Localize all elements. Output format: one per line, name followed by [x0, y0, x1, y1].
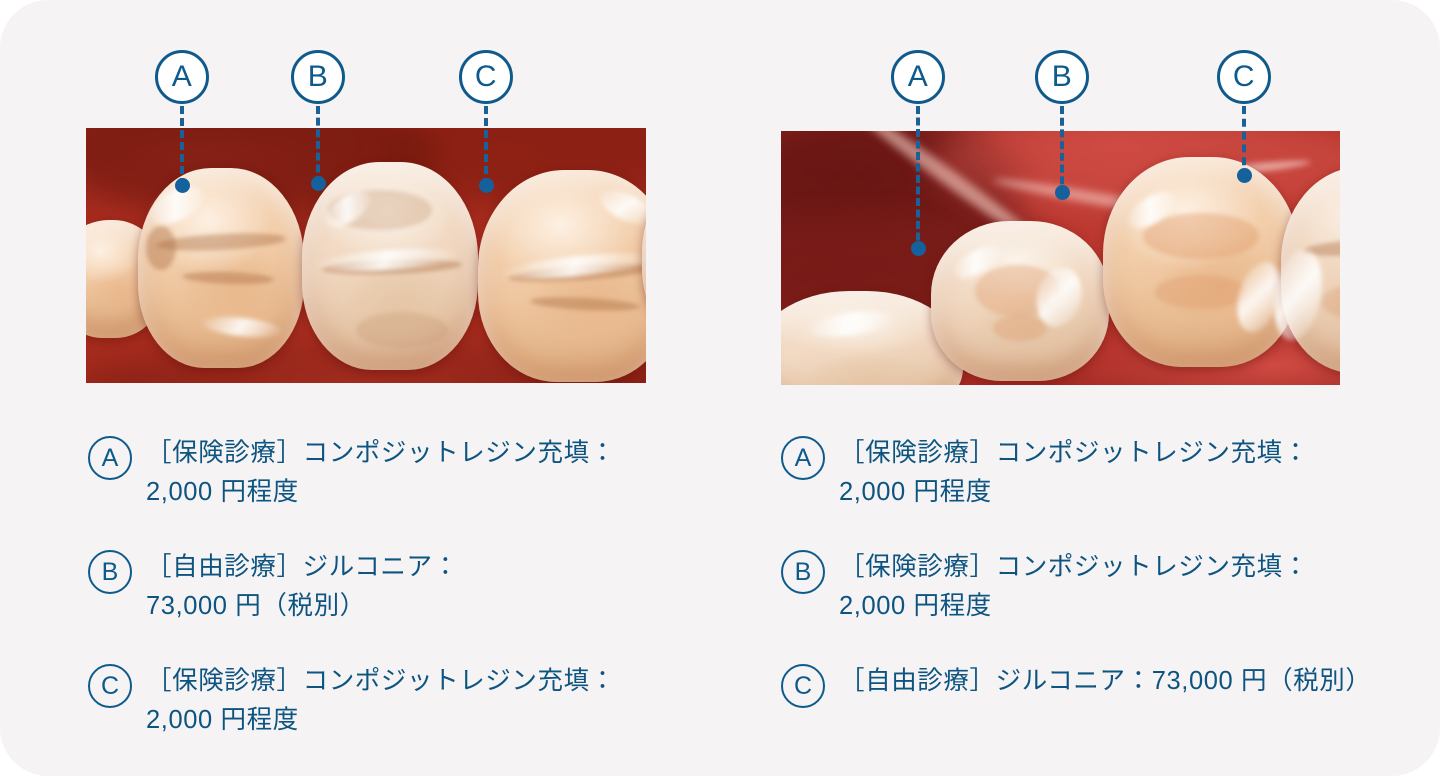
legend-badge-a-label: A [102, 446, 119, 471]
legend-item-b: B ［自由診療］ジルコニア： 73,000 円（税別） [88, 548, 459, 626]
legend-badge-b-label: B [795, 560, 812, 585]
legend-item-c: C ［自由診療］ジルコニア：73,000 円（税別） [781, 662, 1371, 708]
case-left: A B C A ［保険診療］コンポジットレジン充填： 2,000 円程度 [0, 0, 720, 776]
legend-text-b: ［保険診療］コンポジットレジン充填： 2,000 円程度 [839, 548, 1309, 626]
legend-text-a: ［保険診療］コンポジットレジン充填： 2,000 円程度 [146, 434, 616, 512]
legend-badge-b-label: B [102, 560, 119, 585]
legend-text-c: ［自由診療］ジルコニア：73,000 円（税別） [839, 662, 1371, 701]
legend-badge-c-label: C [101, 674, 119, 699]
legend-right: A ［保険診療］コンポジットレジン充填： 2,000 円程度 B ［保険診療］コ… [781, 0, 1401, 776]
legend-badge-a: A [88, 436, 132, 480]
legend-badge-b: B [88, 550, 132, 594]
legend-badge-c: C [88, 664, 132, 708]
legend-text-b: ［自由診療］ジルコニア： 73,000 円（税別） [146, 548, 459, 626]
legend-badge-a-label: A [795, 446, 812, 471]
legend-item-a: A ［保険診療］コンポジットレジン充填： 2,000 円程度 [781, 434, 1309, 512]
legend-badge-a: A [781, 436, 825, 480]
legend-item-a: A ［保険診療］コンポジットレジン充填： 2,000 円程度 [88, 434, 616, 512]
legend-badge-c-label: C [794, 674, 812, 699]
legend-item-b: B ［保険診療］コンポジットレジン充填： 2,000 円程度 [781, 548, 1309, 626]
legend-badge-c: C [781, 664, 825, 708]
legend-item-c: C ［保険診療］コンポジットレジン充填： 2,000 円程度 [88, 662, 616, 740]
legend-text-a: ［保険診療］コンポジットレジン充填： 2,000 円程度 [839, 434, 1309, 512]
legend-text-c: ［保険診療］コンポジットレジン充填： 2,000 円程度 [146, 662, 616, 740]
legend-left: A ［保険診療］コンポジットレジン充填： 2,000 円程度 B ［自由診療］ジ… [88, 0, 688, 776]
infographic-panel: A B C A ［保険診療］コンポジットレジン充填： 2,000 円程度 [0, 0, 1440, 776]
legend-badge-b: B [781, 550, 825, 594]
case-right: A B C A ［保険診療］コンポジットレジン充填： 2,000 円程度 [720, 0, 1440, 776]
